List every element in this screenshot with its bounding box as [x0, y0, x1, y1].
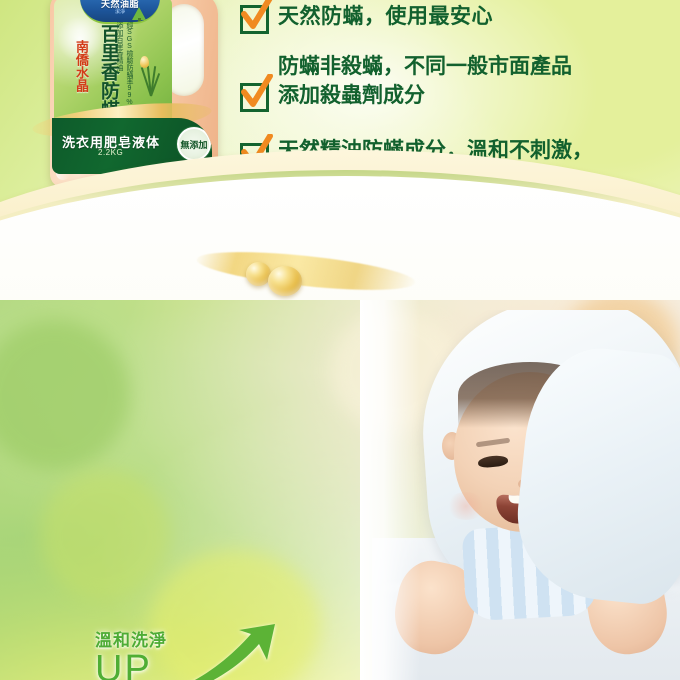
- bokeh-decoration: [40, 470, 170, 600]
- baby-cheek-left: [446, 492, 486, 520]
- up-arrow-icon: [143, 622, 283, 680]
- oil-claim-vertical: 添加百里香精油: [112, 22, 123, 71]
- oil-drop-icon: [140, 56, 149, 68]
- advertisement-banner: 天然油脂 潔淨 百里香防蟎 南僑水晶 經SGS檢驗防蟎率99% 添加百里香精油 …: [0, 0, 680, 680]
- bottom-panel: 溫和洗淨 UP 氣味驅蟎 UP 草本清新 UP: [0, 300, 680, 680]
- photo-soft-edge: [360, 300, 420, 680]
- herb-sprig-icon: [134, 54, 168, 96]
- checklist-item-2: 防蟎非殺蟎，不同一般市面產品 添加殺蟲劑成分: [238, 52, 572, 110]
- tree-trunk-icon: [138, 18, 141, 22]
- checklist-item-2-line-2: 添加殺蟲劑成分: [278, 81, 572, 110]
- no-additives-seal-text: 無添加: [177, 138, 211, 151]
- benefit-up-1: 溫和洗淨 UP: [95, 626, 167, 680]
- checklist-item-1: 天然防蟎，使用最安心: [238, 2, 493, 32]
- sgs-claim-vertical: 經SGS檢驗防蟎率99%: [122, 22, 133, 106]
- natural-oil-badge: 天然油脂 潔淨: [80, 0, 160, 24]
- checklist-item-1-text: 天然防蟎，使用最安心: [278, 2, 493, 32]
- checkbox-checked-icon: [238, 80, 268, 110]
- top-panel: 天然油脂 潔淨 百里香防蟎 南僑水晶 經SGS檢驗防蟎率99% 添加百里香精油 …: [0, 0, 680, 300]
- oil-droplet-icon: [268, 266, 302, 296]
- natural-oil-badge-sub: 潔淨: [80, 8, 160, 15]
- checkbox-checked-icon: [238, 2, 268, 32]
- brand-name-vertical: 南僑水晶: [70, 40, 88, 92]
- net-weight-text: 2.2KG: [98, 148, 123, 157]
- checklist-item-2-line-1: 防蟎非殺蟎，不同一般市面產品: [278, 52, 572, 81]
